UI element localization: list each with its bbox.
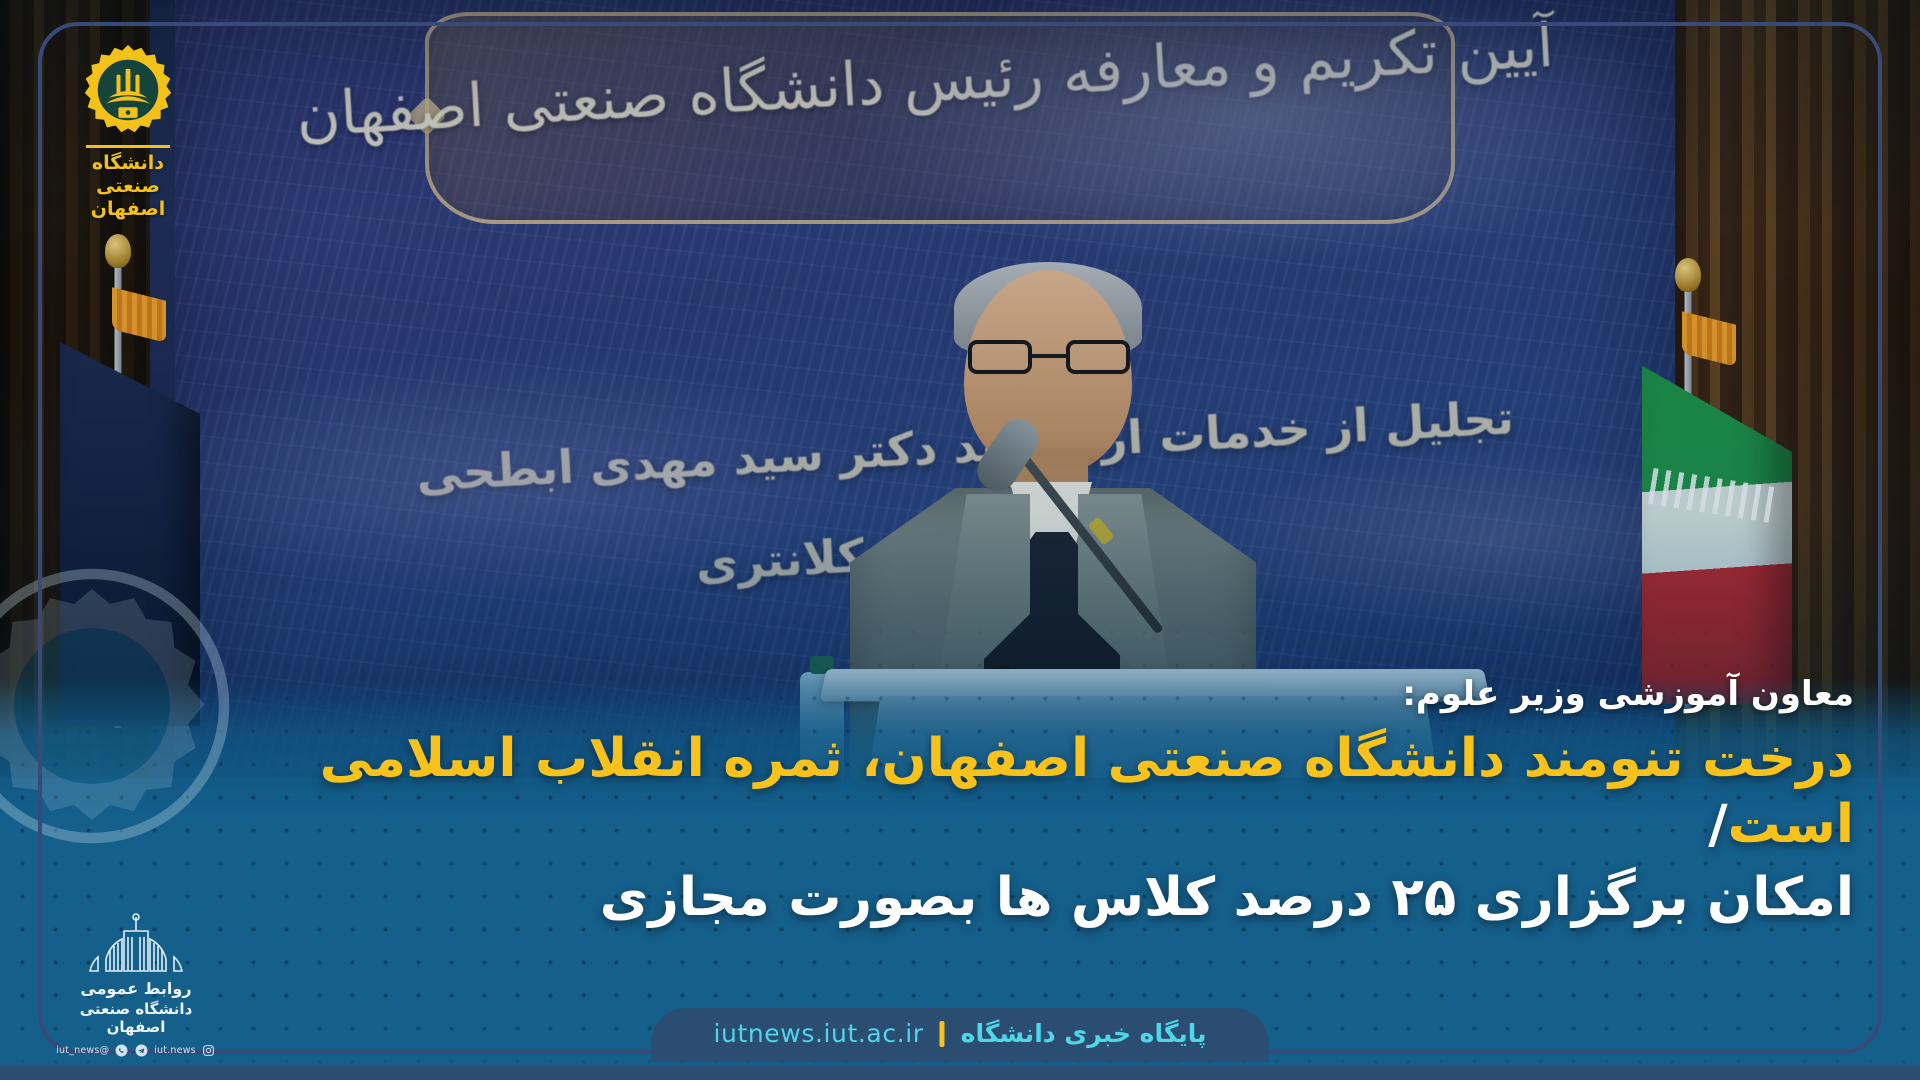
- public-relations-logo: روابط عمومی دانشگاه صنعتی اصفهان iut.new…: [52, 913, 220, 1058]
- footer-separator-bar: [940, 1021, 945, 1047]
- gear-seal-icon: [80, 42, 176, 138]
- stage-photo: آیین تکریم و معارفه رئیس دانشگاه صنعتی ا…: [0, 0, 1920, 778]
- university-building-icon: [76, 913, 196, 975]
- telegram-handle: @iut_news: [56, 1045, 109, 1056]
- scene-color-grade: [0, 0, 1920, 778]
- instagram-handle: iut.news: [154, 1045, 196, 1056]
- university-name-line-3: اصفهان: [58, 198, 198, 221]
- university-name-line-2: صنعتی: [58, 175, 198, 198]
- headline-line-2: امکان برگزاری ۲۵ درصد کلاس ها بصورت مجاز…: [160, 864, 1854, 932]
- headline-separator: /: [1708, 794, 1727, 855]
- headline-block: معاون آموزشی وزیر علوم: درخت تنومند دانش…: [160, 674, 1854, 932]
- headline-line-1-text: درخت تنومند دانشگاه صنعتی اصفهان، ثمره ا…: [320, 728, 1854, 855]
- logo-divider: [86, 145, 170, 148]
- headline-kicker: معاون آموزشی وزیر علوم:: [160, 674, 1854, 714]
- pr-social-row: iut.news @iut_news: [52, 1043, 220, 1058]
- university-name-line-1: دانشگاه: [58, 152, 198, 175]
- poster-canvas: آیین تکریم و معارفه رئیس دانشگاه صنعتی ا…: [0, 0, 1920, 1080]
- footer-pill: پایگاه خبری دانشگاه iutnews.iut.ac.ir: [651, 1008, 1268, 1062]
- telegram-icon[interactable]: [134, 1043, 149, 1058]
- pr-line-1: روابط عمومی: [52, 979, 220, 998]
- footer-strip: [0, 1066, 1920, 1080]
- whatsapp-icon[interactable]: [114, 1043, 129, 1058]
- footer-site-label: پایگاه خبری دانشگاه: [961, 1019, 1207, 1048]
- instagram-icon[interactable]: [201, 1043, 216, 1058]
- pr-line-2: دانشگاه صنعتی اصفهان: [52, 1000, 220, 1036]
- headline-line-1: درخت تنومند دانشگاه صنعتی اصفهان، ثمره ا…: [160, 726, 1854, 859]
- university-logo: دانشگاه صنعتی اصفهان: [58, 42, 198, 222]
- footer-url[interactable]: iutnews.iut.ac.ir: [713, 1019, 923, 1048]
